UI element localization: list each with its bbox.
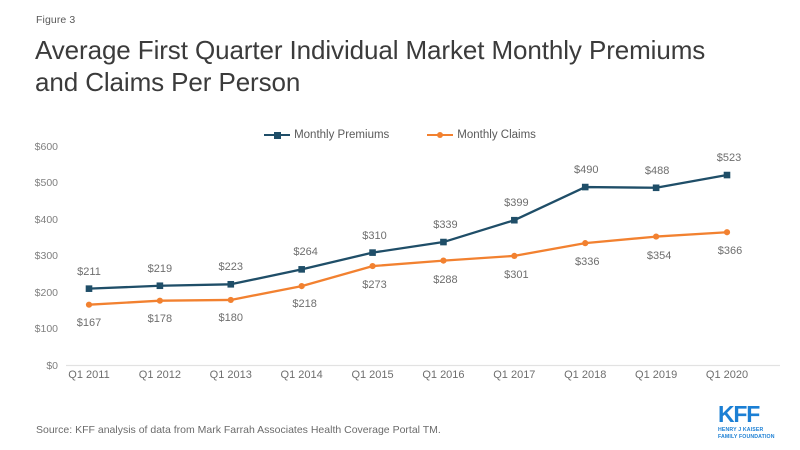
data-point-label: $218 (292, 298, 316, 310)
data-point-label: $273 (362, 279, 386, 291)
x-axis-labels: Q1 2011Q1 2012Q1 2013Q1 2014Q1 2015Q1 20… (0, 0, 800, 450)
x-axis-tick: Q1 2018 (564, 369, 606, 381)
x-axis-tick: Q1 2019 (635, 369, 677, 381)
data-point-label: $301 (504, 269, 528, 281)
x-axis-tick: Q1 2014 (281, 369, 323, 381)
data-point-label: $178 (148, 313, 172, 325)
source-note: Source: KFF analysis of data from Mark F… (36, 424, 441, 436)
data-point-label: $336 (575, 256, 599, 268)
data-point-label: $488 (645, 165, 669, 177)
data-point-label: $211 (77, 266, 101, 278)
data-point-label: $366 (718, 245, 742, 257)
data-point-label: $354 (647, 250, 671, 262)
x-axis-tick: Q1 2016 (422, 369, 464, 381)
kff-subtitle-line2: FAMILY FOUNDATION (718, 434, 788, 440)
x-axis-tick: Q1 2015 (351, 369, 393, 381)
kff-wordmark: KFF (718, 403, 788, 426)
kff-logo: KFF HENRY J KAISER FAMILY FOUNDATION (718, 403, 788, 437)
data-point-label: $288 (433, 274, 457, 286)
x-axis-tick: Q1 2017 (493, 369, 535, 381)
data-point-label: $223 (219, 261, 243, 273)
data-point-label: $264 (293, 246, 317, 258)
data-point-label: $399 (504, 197, 528, 209)
data-point-label: $219 (148, 263, 172, 275)
x-axis-tick: Q1 2012 (139, 369, 181, 381)
data-point-label: $490 (574, 164, 598, 176)
data-point-label: $523 (717, 152, 741, 164)
x-axis-tick: Q1 2013 (210, 369, 252, 381)
data-point-label: $339 (433, 219, 457, 231)
data-point-label: $180 (219, 312, 243, 324)
kff-subtitle-line1: HENRY J KAISER (718, 427, 788, 433)
data-point-label: $167 (77, 317, 101, 329)
data-point-label: $310 (362, 230, 386, 242)
x-axis-tick: Q1 2011 (68, 369, 109, 381)
x-axis-tick: Q1 2020 (706, 369, 748, 381)
